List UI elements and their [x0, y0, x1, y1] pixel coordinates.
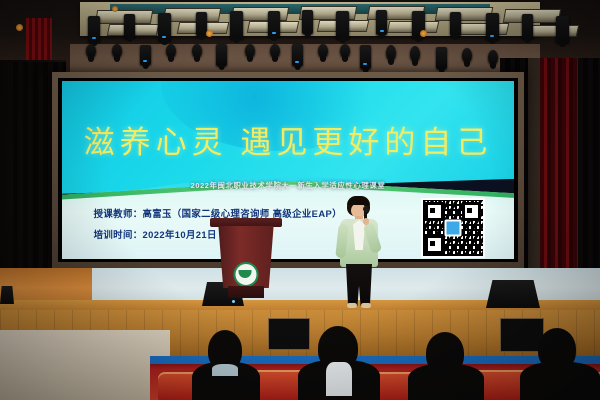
par-can-light [436, 47, 447, 69]
slide-date-line: 培训时间：2022年10月21日 [94, 227, 217, 241]
par-can-light [410, 46, 420, 62]
par-can-light [192, 44, 202, 58]
stage-vent-center [268, 318, 310, 350]
auditorium-photo: 滋养心灵 遇见更好的自己 2022年闽北职业技术学院大一新生入学适应性心理课堂 … [0, 0, 600, 400]
par-can-light [462, 48, 472, 63]
par-can-light [488, 50, 498, 65]
qr-center-logo [444, 220, 461, 237]
par-can-light [270, 44, 280, 58]
stage-light [230, 11, 243, 39]
stage-light [124, 14, 135, 38]
par-can-light [360, 45, 371, 69]
podium-base [228, 286, 264, 298]
slide-content: 滋养心灵 遇见更好的自己 2022年闽北职业技术学院大一新生入学适应性心理课堂 … [62, 81, 514, 259]
stage-light [336, 11, 349, 39]
stage-light [268, 11, 280, 37]
presenter-blouse [353, 220, 365, 250]
stage-light [556, 16, 569, 43]
par-can-light [86, 44, 96, 58]
stage-light [376, 10, 387, 35]
presentation-screen: 滋养心灵 遇见更好的自己 2022年闽北职业技术学院大一新生入学适应性心理课堂 … [52, 72, 524, 268]
stage-light [88, 16, 100, 42]
stage-monitor-right [486, 280, 540, 308]
presenter-shoe-left [347, 303, 357, 308]
stage-light [522, 14, 533, 39]
par-can-light [340, 44, 350, 58]
presenter-fringe [347, 196, 370, 205]
par-can-light [140, 45, 151, 65]
stage-light [486, 13, 499, 40]
school-emblem-icon [234, 262, 259, 287]
hall-floor [0, 330, 170, 400]
par-can-light [112, 44, 122, 58]
podium [214, 218, 278, 298]
par-can-light [386, 45, 396, 61]
par-can-light [292, 44, 303, 66]
stage-light [302, 10, 313, 34]
stage-light [450, 12, 461, 36]
podium-top [210, 218, 282, 227]
slide-subtitle: 2022年闽北职业技术学院大一新生入学适应性心理课堂 [62, 180, 514, 191]
par-can-light [245, 44, 255, 58]
par-can-light [166, 44, 176, 58]
par-can-light [318, 44, 328, 58]
podium-body [216, 226, 276, 288]
par-can-light [216, 44, 227, 66]
presenter-trousers [346, 264, 372, 306]
slide-title: 滋养心灵 遇见更好的自己 [62, 117, 514, 162]
stage-monitor-left [0, 286, 14, 304]
presenter-hand [363, 218, 369, 225]
stage-light [158, 13, 171, 41]
qr-code [421, 198, 485, 258]
presenter-shoe-right [361, 303, 371, 308]
presenter [336, 196, 382, 308]
